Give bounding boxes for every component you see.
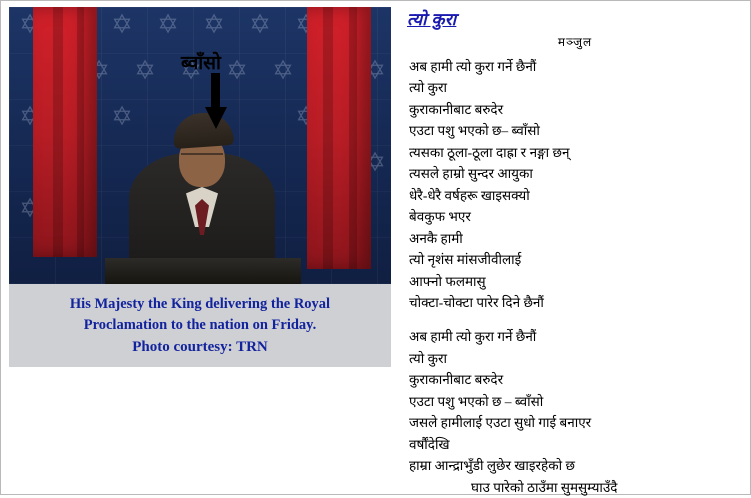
- poem-line: त्यसका ठूला-ठूला दाह्रा र नङ्गा छन्: [409, 142, 745, 163]
- desk: [105, 258, 301, 284]
- caption-line-2: Proclamation to the nation on Friday.: [84, 316, 317, 334]
- flag-cloth: [307, 7, 371, 269]
- star-of-david-icon: ✡: [109, 11, 135, 37]
- callout-label: ब्वाँसो: [181, 49, 221, 75]
- poem-line: आफ्नो फलमासु: [409, 271, 745, 292]
- poem-line: बेवकुफ भएर: [409, 206, 745, 227]
- poem-line: कुराकानीबाट बरुदेर: [409, 369, 745, 390]
- nepal-flag-right: [297, 7, 387, 269]
- poem-title: त्यो कुरा: [407, 7, 745, 30]
- down-arrow-icon: [205, 73, 225, 131]
- poem-line: त्यो कुरा: [409, 348, 745, 369]
- star-of-david-icon: ✡: [224, 57, 250, 83]
- poem-stanza-2: अब हामी त्यो कुरा गर्ने छैनौं त्यो कुरा …: [405, 326, 745, 498]
- poem-line: अनकै हामी: [409, 228, 745, 249]
- flag-cloth: [33, 7, 97, 257]
- poem-line: जसले हामीलाई एउटा सुधो गाई बनाएर: [409, 412, 745, 433]
- flag-fold: [77, 7, 84, 257]
- star-of-david-icon: ✡: [270, 57, 296, 83]
- poem-author: मञ्जुल: [405, 33, 745, 50]
- caption-courtesy: Photo courtesy: TRN: [132, 339, 268, 356]
- poem-column: त्यो कुरा मञ्जुल अब हामी त्यो कुरा गर्ने…: [405, 5, 745, 498]
- nepal-flag-left: [15, 7, 107, 265]
- poem-line: कुराकानीबाट बरुदेर: [409, 99, 745, 120]
- poem-line: त्यो नृशंस मांसजीवीलाई: [409, 249, 745, 270]
- photo-column: ✡ ✡ ✡ ✡ ✡ ✡ ✡ ✡ ✡ ✡ ✡ ✡ ✡ ✡ ✡ ✡ ✡ ✡ ✡ ✡: [9, 7, 391, 367]
- arrow-head: [205, 107, 227, 129]
- poem-line: वर्षौंदेखि: [409, 434, 745, 455]
- royal-proclamation-photo: ✡ ✡ ✡ ✡ ✡ ✡ ✡ ✡ ✡ ✡ ✡ ✡ ✡ ✡ ✡ ✡ ✡ ✡ ✡ ✡: [9, 7, 391, 284]
- poem-line: हाम्रा आन्द्राभुँडी लुछेर खाइरहेको छ: [409, 455, 745, 476]
- flag-fold: [323, 7, 333, 269]
- document-page: ✡ ✡ ✡ ✡ ✡ ✡ ✡ ✡ ✡ ✡ ✡ ✡ ✡ ✡ ✡ ✡ ✡ ✡ ✡ ✡: [0, 0, 751, 495]
- star-of-david-icon: ✡: [132, 57, 158, 83]
- poem-line: अब हामी त्यो कुरा गर्ने छैनौं: [409, 56, 745, 77]
- flag-fold: [53, 7, 63, 257]
- star-of-david-icon: ✡: [247, 11, 273, 37]
- poem-line: धेरै-धेरै वर्षहरू खाइसक्यो: [409, 185, 745, 206]
- poem-line: एउटा पशु भएको छ– ब्वाँसो: [409, 120, 745, 141]
- poem-line: त्यो कुरा: [409, 77, 745, 98]
- poem-line: एउटा पशु भएको छ – ब्वाँसो: [409, 391, 745, 412]
- poem-line: चोक्टा-चोक्टा पारेर दिने छैनौं: [409, 292, 745, 313]
- glasses: [181, 153, 223, 165]
- poem-line: त्यसले हाम्रो सुन्दर आयुका: [409, 163, 745, 184]
- poem-stanza-1: अब हामी त्यो कुरा गर्ने छैनौं त्यो कुरा …: [405, 56, 745, 313]
- caption-line-1: His Majesty the King delivering the Roya…: [70, 295, 330, 313]
- photo-caption: His Majesty the King delivering the Roya…: [9, 284, 391, 367]
- stanza-separator: [405, 313, 745, 326]
- star-of-david-icon: ✡: [155, 11, 181, 37]
- flag-fold: [349, 7, 357, 269]
- star-of-david-icon: ✡: [201, 11, 227, 37]
- arrow-stem: [211, 73, 220, 109]
- king-figure: [129, 91, 275, 284]
- poem-line: अब हामी त्यो कुरा गर्ने छैनौं: [409, 326, 745, 347]
